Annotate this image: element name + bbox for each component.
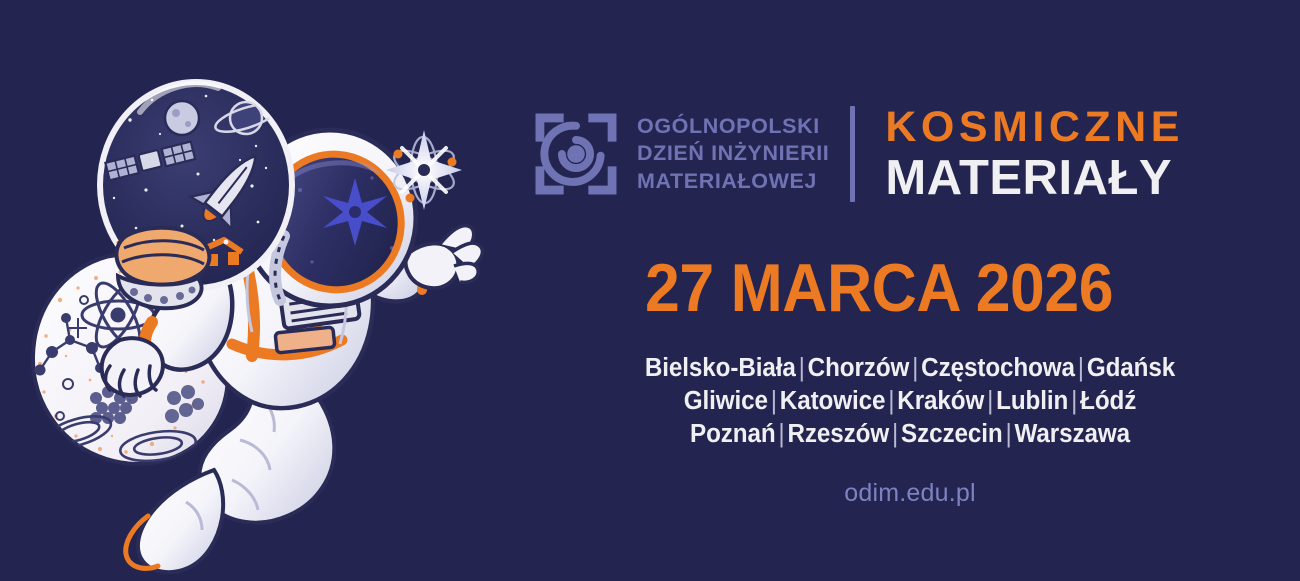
city-separator: | (796, 354, 808, 382)
city-separator: | (1075, 354, 1087, 382)
city-name: Gdańsk (1087, 354, 1175, 382)
website-url[interactable]: odim.edu.pl (520, 478, 1300, 508)
city-line-2: Gliwice|Katowice|Kraków|Lublin|Łódź (540, 385, 1281, 418)
event-date: 27 MARCA 2026 (645, 252, 1215, 324)
title-materialy: MATERIAŁY (885, 152, 1184, 204)
city-line-3: Poznań|Rzeszów|Szczecin|Warszawa (540, 418, 1281, 451)
event-banner: OGÓLNOPOLSKI DZIEŃ INŻYNIERII MATERIAŁOW… (0, 0, 1300, 581)
banner-content: OGÓLNOPOLSKI DZIEŃ INŻYNIERII MATERIAŁOW… (520, 0, 1300, 581)
org-line-1: OGÓLNOPOLSKI (637, 113, 829, 141)
city-separator: | (768, 387, 780, 415)
moon (165, 101, 199, 135)
city-name: Szczecin (901, 420, 1003, 448)
neck-ring (116, 228, 209, 308)
city-separator: | (885, 387, 897, 415)
odim-spiral-logo-icon (532, 110, 620, 198)
city-name: Warszawa (1015, 420, 1130, 448)
city-name: Katowice (780, 387, 886, 415)
title-kosmiczne: KOSMICZNE (885, 104, 1184, 150)
city-separator: | (889, 420, 901, 448)
city-name: Łódź (1080, 387, 1136, 415)
city-separator: | (984, 387, 996, 415)
right-glove (406, 226, 483, 288)
vertical-divider (850, 106, 855, 202)
city-name: Bielsko-Biała (645, 354, 796, 382)
city-name: Gliwice (684, 387, 768, 415)
city-separator: | (1068, 387, 1080, 415)
city-name: Poznań (690, 420, 776, 448)
city-name: Częstochowa (921, 354, 1075, 382)
city-name: Chorzów (808, 354, 910, 382)
city-separator: | (909, 354, 921, 382)
city-separator: | (776, 420, 788, 448)
city-name: Rzeszów (787, 420, 889, 448)
left-glove (102, 338, 163, 396)
event-title: KOSMICZNE MATERIAŁY (885, 104, 1184, 204)
logo-lockup: OGÓLNOPOLSKI DZIEŃ INŻYNIERII MATERIAŁOW… (532, 100, 1184, 208)
city-name: Lublin (996, 387, 1068, 415)
city-line-1: Bielsko-Biała|Chorzów|Częstochowa|Gdańsk (540, 352, 1281, 385)
city-list: Bielsko-Biała|Chorzów|Częstochowa|Gdańsk… (520, 352, 1300, 451)
city-separator: | (1003, 420, 1015, 448)
org-line-3: MATERIAŁOWEJ (637, 168, 829, 196)
org-line-2: DZIEŃ INŻYNIERII (637, 140, 829, 168)
city-name: Kraków (897, 387, 984, 415)
organization-name: OGÓLNOPOLSKI DZIEŃ INŻYNIERII MATERIAŁOW… (637, 113, 829, 196)
astronaut-illustration (0, 0, 520, 581)
